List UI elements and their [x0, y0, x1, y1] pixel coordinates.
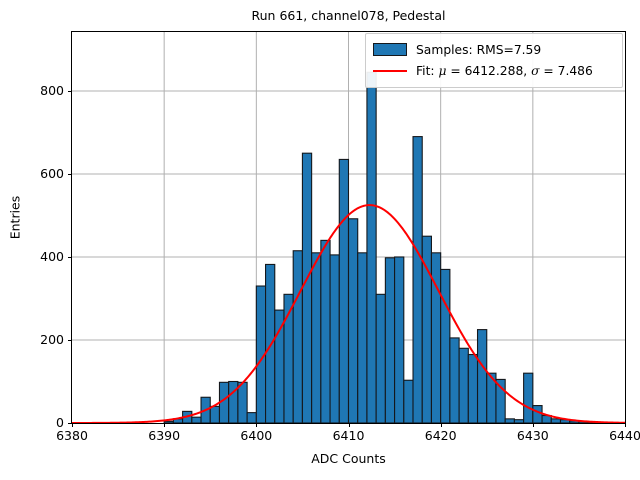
x-tick-mark: [533, 423, 534, 427]
y-tick-mark: [68, 257, 72, 258]
y-tick-mark: [68, 340, 72, 341]
y-axis-label: Entries: [8, 118, 23, 318]
y-tick-label: 800: [8, 83, 64, 98]
legend-label-samples: Samples: RMS=7.59: [416, 43, 541, 57]
x-tick-mark: [625, 423, 626, 427]
y-tick-mark: [68, 174, 72, 175]
x-tick-label: 6400: [221, 428, 291, 443]
legend-label-fit: Fit: μ = 6412.288, σ = 7.486: [416, 64, 593, 78]
y-tick-label: 200: [8, 332, 64, 347]
x-tick-label: 6420: [406, 428, 476, 443]
x-tick-label: 6380: [37, 428, 107, 443]
x-tick-label: 6390: [129, 428, 199, 443]
x-tick-mark: [72, 423, 73, 427]
histogram-svg: [72, 32, 625, 423]
x-tick-mark: [441, 423, 442, 427]
legend-line-icon: [373, 64, 407, 77]
x-tick-label: 6440: [590, 428, 640, 443]
legend-box: Samples: RMS=7.59 Fit: μ = 6412.288, σ =…: [365, 33, 623, 88]
x-tick-mark: [256, 423, 257, 427]
y-tick-mark: [68, 91, 72, 92]
x-tick-mark: [349, 423, 350, 427]
figure-canvas: Run 661, channel078, Pedestal 0200400600…: [0, 0, 640, 480]
x-tick-mark: [164, 423, 165, 427]
plot-area: [71, 31, 626, 424]
legend-patch-icon: [373, 43, 407, 56]
x-tick-label: 6410: [314, 428, 384, 443]
y-tick-mark: [68, 423, 72, 424]
page-title: Run 661, channel078, Pedestal: [71, 8, 626, 23]
legend-item-fit: Fit: μ = 6412.288, σ = 7.486: [373, 60, 615, 81]
x-axis-label: ADC Counts: [71, 451, 626, 466]
legend-item-samples: Samples: RMS=7.59: [373, 39, 615, 60]
x-tick-label: 6430: [498, 428, 568, 443]
